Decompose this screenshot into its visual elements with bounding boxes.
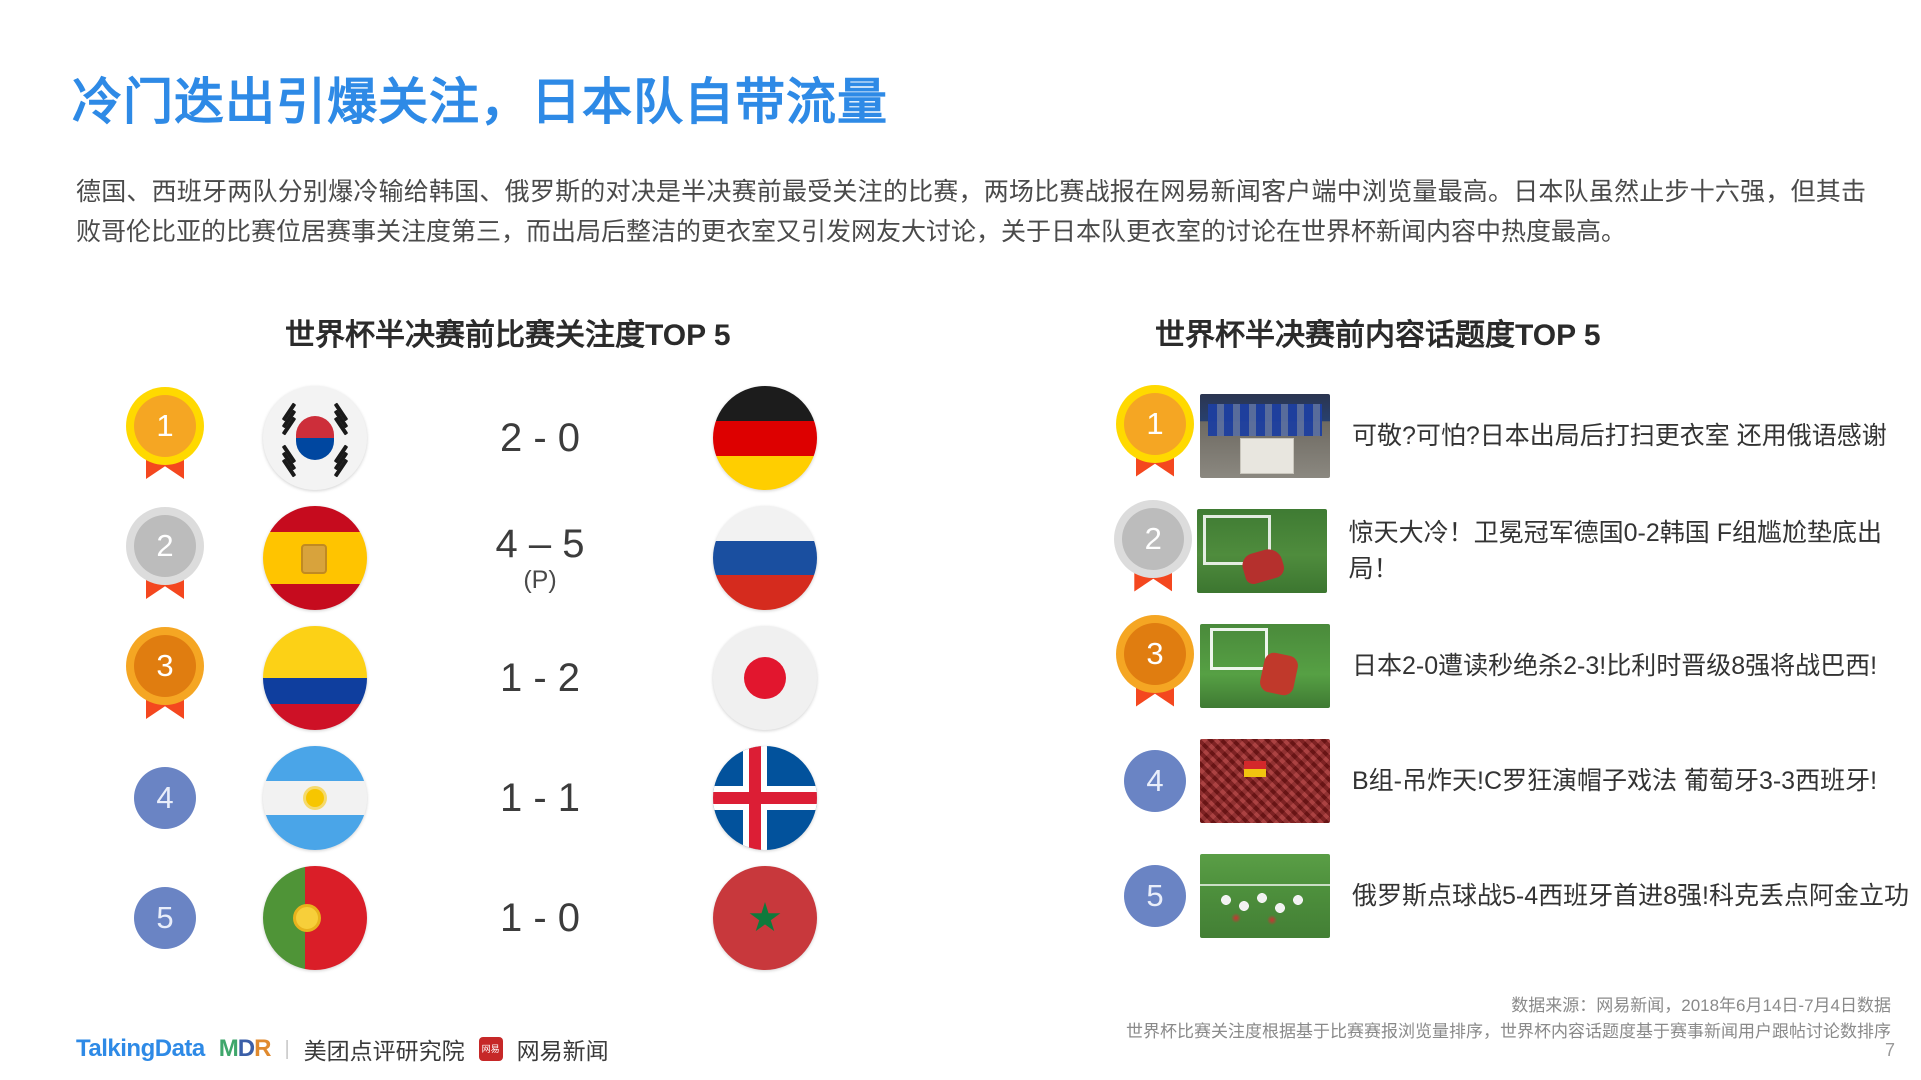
rank-cell: 4 [110, 767, 220, 829]
table-row: 5 1 - 0 [110, 858, 940, 978]
news-headline[interactable]: B组-吊炸天!C罗狂演帽子戏法 葡萄牙3-3西班牙! [1352, 763, 1910, 799]
mdr-logo: MDR [219, 1035, 271, 1063]
russia-flag-icon [713, 506, 817, 610]
score-note-label: (P) [410, 567, 670, 593]
goal-mouth-photo [1197, 509, 1327, 593]
news-topic-list: 1 可敬?可怕?日本出局后打扫更衣室 还用俄语感谢 2 惊天大冷！卫冕冠军德国0… [1110, 378, 1910, 953]
intro-paragraph: 德国、西班牙两队分别爆冷输给韩国、俄罗斯的对决是半决赛前最受关注的比赛，两场比赛… [76, 172, 1866, 252]
left-section-heading: 世界杯半决赛前比赛关注度TOP 5 [285, 310, 731, 354]
rank-badge: 4 [134, 767, 196, 829]
list-item: 3 日本2-0遭读秒绝杀2-3!比利时晋级8强将战巴西! [1110, 608, 1910, 723]
meituan-research-logo: 美团点评研究院 [304, 1032, 465, 1066]
home-flag-cell [220, 386, 410, 490]
morocco-flag-icon [713, 866, 817, 970]
medal-rank-label: 2 [1122, 508, 1184, 570]
silver-medal-icon: 2 [1122, 508, 1184, 594]
right-section-heading: 世界杯半决赛前内容话题度TOP 5 [1155, 310, 1601, 354]
source-line-1: 数据来源：网易新闻，2018年6月14日-7月4日数据 [1126, 993, 1891, 1019]
rank-badge: 5 [134, 887, 196, 949]
source-note: 数据来源：网易新闻，2018年6月14日-7月4日数据 世界杯比赛关注度根据基于… [1126, 993, 1891, 1045]
south-korea-flag-icon [263, 386, 367, 490]
silver-medal-icon: 2 [134, 515, 196, 601]
mdr-logo-m: M [219, 1035, 238, 1062]
rank-cell: 1 [110, 395, 220, 481]
portugal-flag-icon [263, 866, 367, 970]
news-headline[interactable]: 日本2-0遭读秒绝杀2-3!比利时晋级8强将战巴西! [1352, 648, 1910, 684]
home-flag-cell [220, 626, 410, 730]
score-label: 1 - 2 [500, 656, 580, 700]
rank-badge: 4 [1124, 750, 1186, 812]
medal-rank-label: 3 [1124, 623, 1186, 685]
home-flag-cell [220, 746, 410, 850]
red-crowd-photo [1200, 739, 1330, 823]
medal-rank-label: 3 [134, 635, 196, 697]
netease-badge-icon: 网易 [479, 1037, 503, 1061]
bronze-medal-icon: 3 [1124, 623, 1186, 709]
news-headline[interactable]: 俄罗斯点球战5-4西班牙首进8强!科克丢点阿金立功 [1352, 878, 1910, 914]
rank-cell: 3 [110, 635, 220, 721]
players-on-ground-photo [1200, 624, 1330, 708]
table-row: 1 [110, 378, 940, 498]
netease-news-logo: 网易新闻 [517, 1032, 609, 1066]
score-label: 1 - 1 [500, 776, 580, 820]
argentina-flag-icon [263, 746, 367, 850]
score-cell: 4 – 5 (P) [410, 523, 670, 593]
bronze-medal-icon: 3 [134, 635, 196, 721]
news-headline[interactable]: 可敬?可怕?日本出局后打扫更衣室 还用俄语感谢 [1352, 418, 1910, 454]
gold-medal-icon: 1 [134, 395, 196, 481]
home-flag-cell [220, 506, 410, 610]
page-title: 冷门迭出引爆关注，日本队自带流量 [72, 62, 888, 134]
away-flag-cell [670, 506, 860, 610]
talkingdata-logo: TalkingData [76, 1035, 205, 1063]
score-cell: 2 - 0 [410, 417, 670, 459]
germany-flag-icon [713, 386, 817, 490]
page-number: 7 [1885, 1040, 1895, 1061]
slide-root: 冷门迭出引爆关注，日本队自带流量 德国、西班牙两队分别爆冷输给韩国、俄罗斯的对决… [0, 0, 1921, 1080]
medal-rank-label: 1 [1124, 393, 1186, 455]
spain-flag-icon [263, 506, 367, 610]
score-cell: 1 - 0 [410, 897, 670, 939]
source-line-2: 世界杯比赛关注度根据基于比赛赛报浏览量排序，世界杯内容话题度基于赛事新闻用户跟帖… [1126, 1019, 1891, 1045]
footer-logo-bar: TalkingData MDR | 美团点评研究院 网易 网易新闻 [76, 1032, 609, 1066]
medal-rank-label: 1 [134, 395, 196, 457]
list-item: 5 俄罗斯点球战5-4西班牙首进8强!科克丢点阿金立功 [1110, 838, 1910, 953]
away-flag-cell [670, 386, 860, 490]
mdr-logo-r: R [254, 1035, 270, 1062]
match-attention-list: 1 [110, 378, 940, 978]
rank-cell: 3 [1110, 623, 1200, 709]
logo-divider: | [284, 1038, 289, 1061]
rank-cell: 5 [110, 887, 220, 949]
iceland-flag-icon [713, 746, 817, 850]
rank-cell: 5 [1110, 865, 1200, 927]
table-row: 2 4 – 5 (P) [110, 498, 940, 618]
mdr-logo-d: D [238, 1035, 254, 1062]
table-row: 4 1 - 1 [110, 738, 940, 858]
list-item: 2 惊天大冷！卫冕冠军德国0-2韩国 F组尴尬垫底出局！ [1110, 493, 1910, 608]
medal-rank-label: 2 [134, 515, 196, 577]
list-item: 1 可敬?可怕?日本出局后打扫更衣室 还用俄语感谢 [1110, 378, 1910, 493]
list-item: 4 B组-吊炸天!C罗狂演帽子戏法 葡萄牙3-3西班牙! [1110, 723, 1910, 838]
score-cell: 1 - 1 [410, 777, 670, 819]
gold-medal-icon: 1 [1124, 393, 1186, 479]
home-flag-cell [220, 866, 410, 970]
colombia-flag-icon [263, 626, 367, 730]
away-flag-cell [670, 866, 860, 970]
table-row: 3 1 - 2 [110, 618, 940, 738]
rank-badge: 5 [1124, 865, 1186, 927]
rank-cell: 2 [1110, 508, 1197, 594]
locker-room-photo [1200, 394, 1330, 478]
away-flag-cell [670, 746, 860, 850]
score-label: 1 - 0 [500, 896, 580, 940]
japan-flag-icon [713, 626, 817, 730]
away-flag-cell [670, 626, 860, 730]
news-headline[interactable]: 惊天大冷！卫冕冠军德国0-2韩国 F组尴尬垫底出局！ [1349, 515, 1910, 587]
rank-cell: 1 [1110, 393, 1200, 479]
score-label: 2 - 0 [500, 416, 580, 460]
score-label: 4 – 5 [496, 522, 585, 566]
team-celebration-photo [1200, 854, 1330, 938]
score-cell: 1 - 2 [410, 657, 670, 699]
rank-cell: 4 [1110, 750, 1200, 812]
rank-cell: 2 [110, 515, 220, 601]
